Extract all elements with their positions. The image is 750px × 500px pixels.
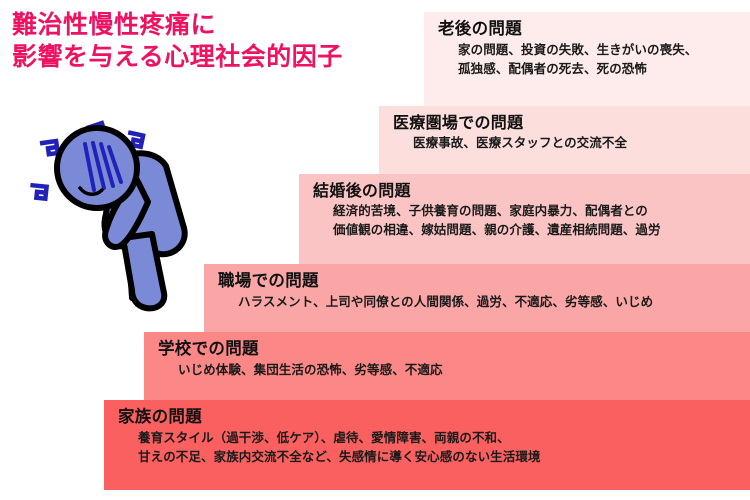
step-heading: 学校での問題: [158, 338, 740, 360]
step-heading: 医療圏場での問題: [393, 112, 740, 133]
step-panel-after-marriage: 結婚後の問題 経済的苦境、子供養育の問題、家庭内暴力、配偶者との 価値観の相違、…: [299, 174, 750, 264]
step-heading: 結婚後の問題: [313, 180, 740, 201]
person-in-pain-illustration: [24, 88, 224, 320]
step-panel-family: 家族の問題 養育スタイル（過干渉、低ケア）、虐待、愛情障害、両親の不和、 甘えの…: [104, 400, 750, 490]
step-body-line: 養育スタイル（過干渉、低ケア）、虐待、愛情障害、両親の不和、: [118, 428, 740, 447]
page-title-line-2: 影響を与える心理社会的因子: [12, 41, 432, 73]
step-body-line: 価値観の相違、嫁姑問題、親の介護、遺産相続問題、過労: [313, 220, 740, 239]
step-panel-medical-setting: 医療圏場での問題 医療事故、医療スタッフとの交流不全: [379, 106, 750, 174]
step-body-line: いじめ体験、集団生活の恐怖、劣等感、不適応: [158, 360, 740, 379]
step-heading: 職場での問題: [218, 270, 740, 292]
step-body-line: 医療事故、医療スタッフとの交流不全: [393, 133, 740, 152]
step-body-line: 甘えの不足、家族内交流不全など、失感情に導く安心感のない生活環境: [118, 447, 740, 466]
step-body-line: 経済的苦境、子供養育の問題、家庭内暴力、配偶者との: [313, 201, 740, 220]
figure-head: [57, 128, 137, 208]
step-panel-workplace: 職場での問題 ハラスメント、上司や同僚との人間関係、過労、不適応、劣等感、いじめ: [204, 264, 750, 332]
step-body-line: 孤独感、配偶者の死去、死の恐怖: [438, 59, 740, 78]
page-title-line-1: 難治性慢性疼痛に: [12, 9, 432, 41]
step-panel-old-age: 老後の問題 家の問題、投資の失敗、生きがいの喪失、 孤独感、配偶者の死去、死の恐…: [424, 12, 750, 106]
step-heading: 家族の問題: [118, 406, 740, 428]
slide-canvas: 難治性慢性疼痛に 影響を与える心理社会的因子: [0, 0, 750, 500]
step-body-line: ハラスメント、上司や同僚との人間関係、過労、不適応、劣等感、いじめ: [218, 292, 740, 311]
step-heading: 老後の問題: [438, 18, 740, 40]
step-panel-school: 学校での問題 いじめ体験、集団生活の恐怖、劣等感、不適応: [144, 332, 750, 400]
step-body-line: 家の問題、投資の失敗、生きがいの喪失、: [438, 40, 740, 59]
page-title: 難治性慢性疼痛に 影響を与える心理社会的因子: [12, 9, 432, 73]
